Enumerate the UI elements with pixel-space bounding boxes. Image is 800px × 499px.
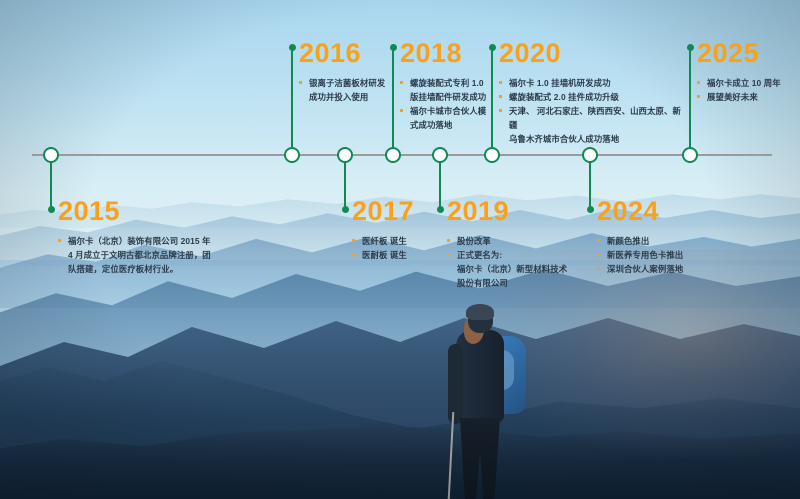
bullet-item: 深圳合伙人案例落地 [597, 262, 717, 276]
bullet-list-2025: 福尔卡成立 10 周年 展望美好未来 [697, 76, 797, 104]
timeline-node-2018[interactable] [385, 147, 401, 163]
timeline-stem-dot-2024 [587, 206, 594, 213]
bullet-list-2017: 医纤板 诞生 医耐板 诞生 [352, 234, 438, 262]
year-label-2025: 2025 [697, 40, 797, 67]
bullet-item: 医耐板 诞生 [352, 248, 438, 262]
year-label-2020: 2020 [499, 40, 689, 67]
timeline-stem-2025 [689, 47, 691, 151]
bullet-item: 天津、 河北石家庄、陕西西安、山西太原、新疆 [499, 104, 689, 132]
timeline-stem-dot-2015 [48, 206, 55, 213]
timeline-node-2019[interactable] [432, 147, 448, 163]
timeline-node-2015[interactable] [43, 147, 59, 163]
bullet-item: 螺旋装配式专利 1.0 [400, 76, 496, 90]
timeline-axis [32, 154, 772, 156]
timeline-stem-2017 [344, 161, 346, 209]
bullet-item: 福尔卡 1.0 挂墙机研发成功 [499, 76, 689, 90]
bullet-item: 福尔卡成立 10 周年 [697, 76, 797, 90]
bullet-item: 式成功落地 [400, 118, 496, 132]
timeline-stem-2024 [589, 161, 591, 209]
timeline-node-2025[interactable] [682, 147, 698, 163]
bullet-item: 福尔卡（北京）新型材料技术 [447, 262, 577, 276]
bullet-list-2016: 银离子洁菌板材研发 成功并投入使用 [299, 76, 399, 104]
timeline-entry-2016: 2016 银离子洁菌板材研发 成功并投入使用 [299, 40, 399, 104]
bullet-item: 银离子洁菌板材研发 [299, 76, 399, 90]
timeline-node-2020[interactable] [484, 147, 500, 163]
bullet-item: 股份改革 [447, 234, 577, 248]
bullet-list-2020: 福尔卡 1.0 挂墙机研发成功 螺旋装配式 2.0 挂件成功升级 天津、 河北石… [499, 76, 689, 146]
bullet-item: 新颜色推出 [597, 234, 717, 248]
bullet-item: 医纤板 诞生 [352, 234, 438, 248]
timeline-entry-2017: 2017 医纤板 诞生 医耐板 诞生 [352, 198, 438, 262]
year-label-2016: 2016 [299, 40, 399, 67]
timeline-stem-dot-2016 [289, 44, 296, 51]
bullet-item: 展望美好未来 [697, 90, 797, 104]
timeline-node-2016[interactable] [284, 147, 300, 163]
timeline-stem-dot-2017 [342, 206, 349, 213]
year-label-2017: 2017 [352, 198, 438, 225]
year-label-2015: 2015 [58, 198, 233, 225]
bullet-item: 福尔卡城市合伙人模 [400, 104, 496, 118]
bullet-list-2019: 股份改革 正式更名为: 福尔卡（北京）新型材料技术 股份有限公司 [447, 234, 577, 290]
bullet-item: 股份有限公司 [447, 276, 577, 290]
year-label-2024: 2024 [597, 198, 717, 225]
bullet-item: 螺旋装配式 2.0 挂件成功升级 [499, 90, 689, 104]
bullet-list-2018: 螺旋装配式专利 1.0 版挂墙配件研发成功 福尔卡城市合伙人模 式成功落地 [400, 76, 496, 132]
bullet-list-2024: 新颜色推出 新医养专用色卡推出 深圳合伙人案例落地 [597, 234, 717, 276]
timeline-stem-2015 [50, 161, 52, 209]
bullet-item: 新医养专用色卡推出 [597, 248, 717, 262]
timeline-stem-2019 [439, 161, 441, 209]
timeline-entry-2018: 2018 螺旋装配式专利 1.0 版挂墙配件研发成功 福尔卡城市合伙人模 式成功… [400, 40, 496, 132]
timeline-node-2024[interactable] [582, 147, 598, 163]
bullet-item: 版挂墙配件研发成功 [400, 90, 496, 104]
timeline-infographic: 2015 福尔卡（北京）装饰有限公司 2015 年 4 月成立于文明古都北京品牌… [0, 0, 800, 499]
year-label-2019: 2019 [447, 198, 577, 225]
bullet-item: 队搭建，定位医疗板材行业。 [58, 262, 233, 276]
timeline-entry-2025: 2025 福尔卡成立 10 周年 展望美好未来 [697, 40, 797, 104]
timeline-stem-2016 [291, 47, 293, 151]
timeline-entry-2024: 2024 新颜色推出 新医养专用色卡推出 深圳合伙人案例落地 [597, 198, 717, 276]
timeline-node-2017[interactable] [337, 147, 353, 163]
timeline-entry-2020: 2020 福尔卡 1.0 挂墙机研发成功 螺旋装配式 2.0 挂件成功升级 天津… [499, 40, 689, 146]
bullet-item: 福尔卡（北京）装饰有限公司 2015 年 [58, 234, 233, 248]
bullet-item: 成功并投入使用 [299, 90, 399, 104]
bullet-item: 乌鲁木齐城市合伙人成功落地 [499, 132, 689, 146]
bullet-item: 4 月成立于文明古都北京品牌注册，团 [58, 248, 233, 262]
year-label-2018: 2018 [400, 40, 496, 67]
bullet-list-2015: 福尔卡（北京）装饰有限公司 2015 年 4 月成立于文明古都北京品牌注册，团 … [58, 234, 233, 276]
timeline-entry-2019: 2019 股份改革 正式更名为: 福尔卡（北京）新型材料技术 股份有限公司 [447, 198, 577, 290]
timeline-entry-2015: 2015 福尔卡（北京）装饰有限公司 2015 年 4 月成立于文明古都北京品牌… [58, 198, 233, 276]
bullet-item: 正式更名为: [447, 248, 577, 262]
